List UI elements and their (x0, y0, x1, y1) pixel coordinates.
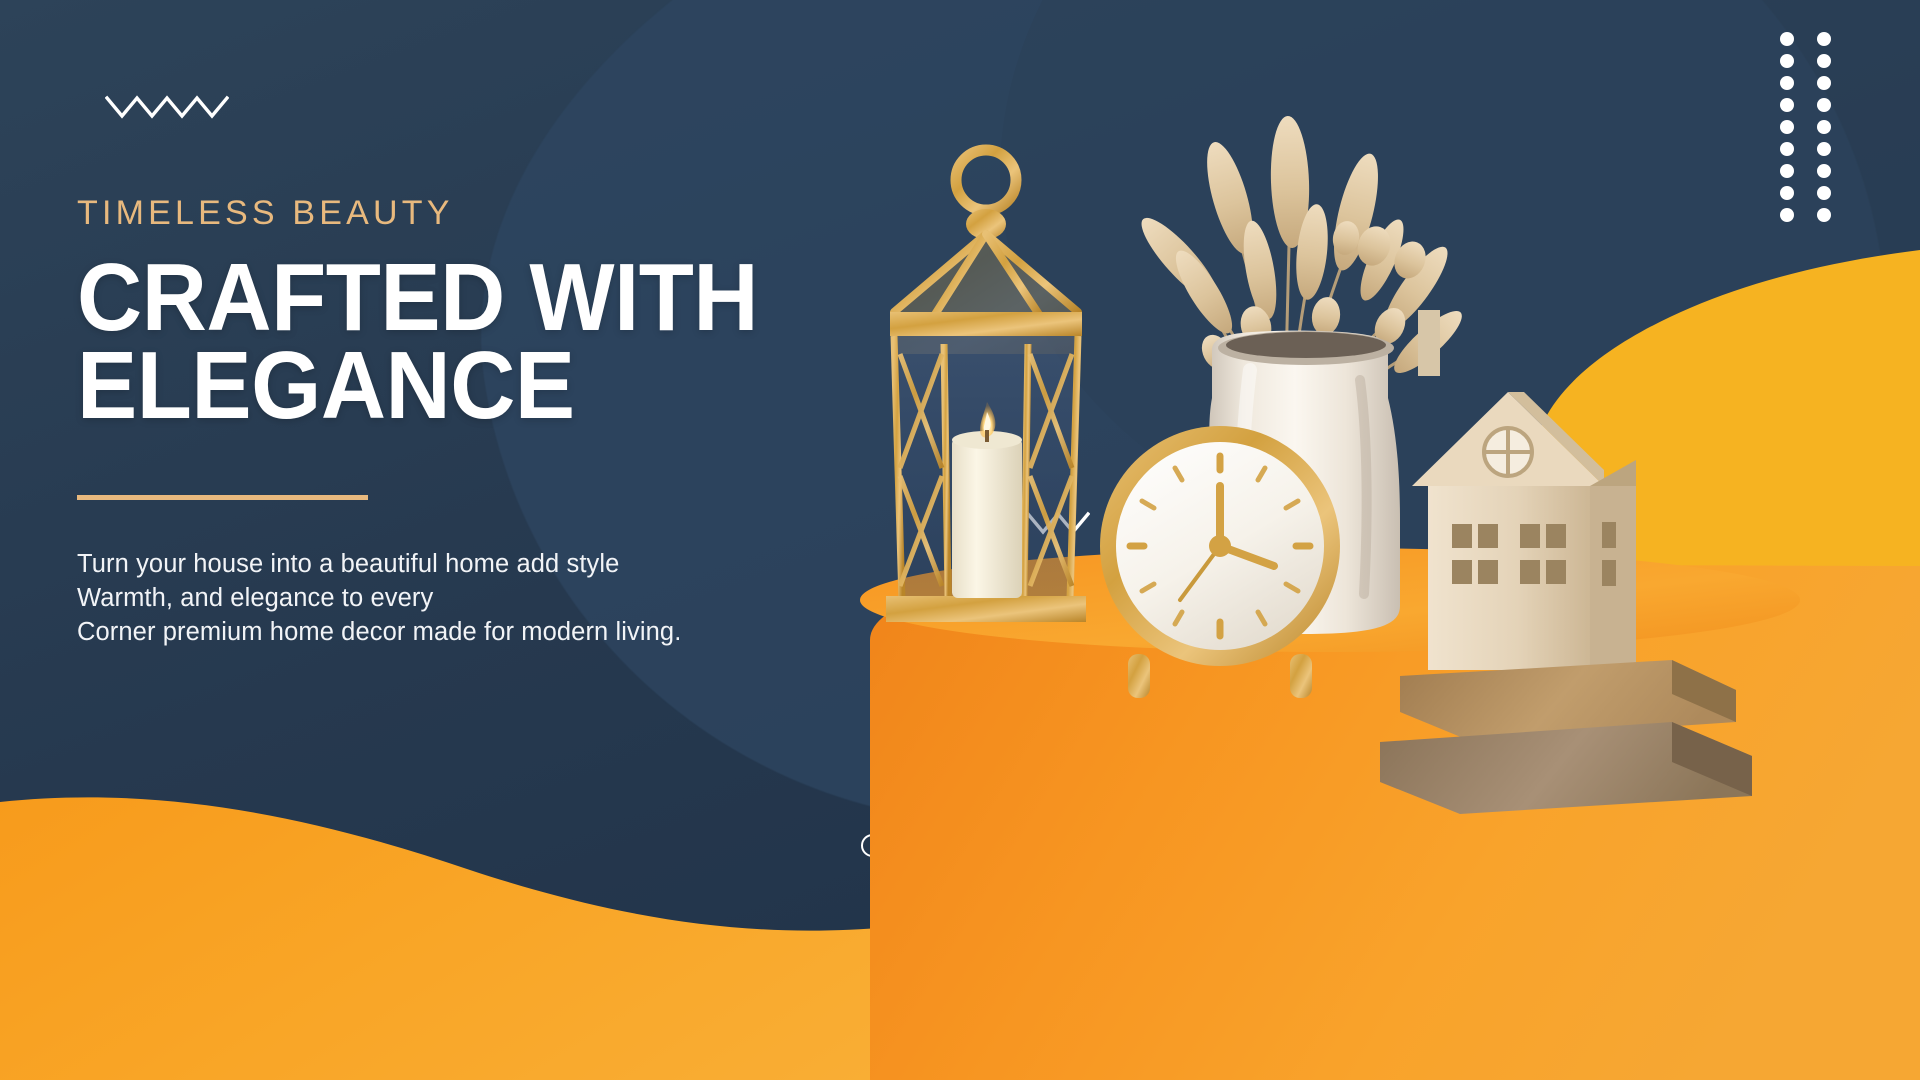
promotional-banner: TIMELESS BEAUTY CRAFTED WITH ELEGANCE Tu… (0, 0, 1920, 1080)
dot (1780, 32, 1794, 46)
dot (1817, 32, 1831, 46)
dot (1817, 98, 1831, 112)
eyebrow-text: TIMELESS BEAUTY (77, 196, 937, 230)
dot (1817, 186, 1831, 200)
dot (1817, 142, 1831, 156)
dot (1780, 76, 1794, 90)
orange-wave-bottom (0, 750, 1180, 1080)
divider-rule (77, 495, 368, 500)
dot (1817, 164, 1831, 178)
dot (1780, 164, 1794, 178)
dot-grid-icon (1780, 32, 1831, 222)
dot (1817, 208, 1831, 222)
circle-outline-icon (861, 834, 884, 857)
dot (1817, 54, 1831, 68)
orange-blob-right (1360, 250, 1920, 810)
dot (1817, 76, 1831, 90)
banner-copy: TIMELESS BEAUTY CRAFTED WITH ELEGANCE Tu… (77, 196, 937, 650)
zigzag-icon-center (966, 508, 1090, 536)
dot (1817, 120, 1831, 134)
dot (1780, 120, 1794, 134)
zigzag-icon-top-left (105, 92, 229, 120)
body-paragraph: Turn your house into a beautiful home ad… (77, 547, 937, 650)
dot (1780, 54, 1794, 68)
headline-line-2: ELEGANCE (77, 342, 885, 430)
dot (1780, 142, 1794, 156)
dot (1780, 98, 1794, 112)
dot (1780, 208, 1794, 222)
headline: CRAFTED WITH ELEGANCE (77, 254, 885, 431)
dot (1780, 186, 1794, 200)
